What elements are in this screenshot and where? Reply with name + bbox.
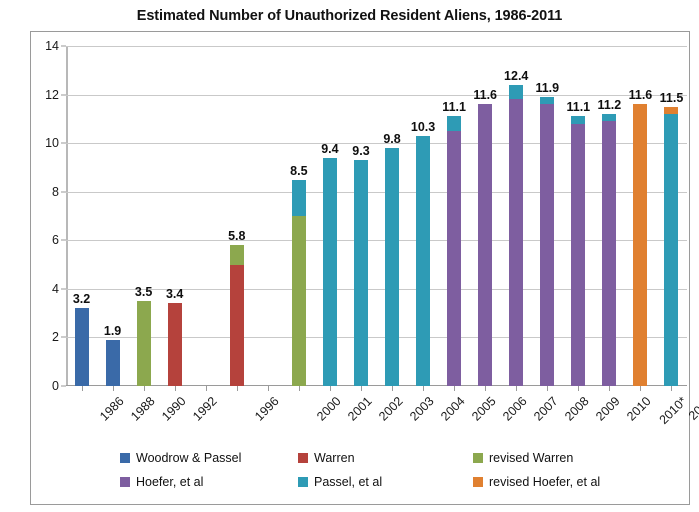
- bar-column[interactable]: 11.6: [633, 104, 647, 386]
- legend-item[interactable]: revised Hoefer, et al: [473, 475, 640, 489]
- bar-value-label: 11.9: [535, 81, 559, 95]
- legend-swatch-icon: [473, 453, 483, 463]
- chart-title: Estimated Number of Unauthorized Residen…: [0, 8, 699, 24]
- x-axis-tick-mark: [175, 386, 176, 391]
- x-axis-tick-mark: [516, 386, 517, 391]
- bar-column[interactable]: 11.5: [664, 107, 678, 386]
- bar-segment[interactable]: [509, 99, 523, 386]
- x-axis-tick-mark: [485, 386, 486, 391]
- x-axis-tick-mark: [82, 386, 83, 391]
- bar-segment[interactable]: [137, 301, 151, 386]
- x-axis-tick-mark: [113, 386, 114, 391]
- y-axis-tick-label: 4: [25, 282, 59, 296]
- bar-value-label: 9.4: [321, 142, 338, 156]
- x-axis-tick-mark: [361, 386, 362, 391]
- bar-value-label: 3.4: [166, 287, 183, 301]
- y-axis-tick-label: 12: [25, 88, 59, 102]
- x-axis-tick-mark: [206, 386, 207, 391]
- plot-area: 02468101214 3.21.93.53.45.88.59.49.39.81…: [66, 46, 687, 386]
- bar-column[interactable]: 9.8: [385, 148, 399, 386]
- bar-value-label: 9.3: [352, 144, 369, 158]
- bar-value-label: 8.5: [290, 164, 307, 178]
- x-axis-tick-mark: [392, 386, 393, 391]
- legend-item[interactable]: revised Warren: [473, 451, 640, 465]
- bar-column[interactable]: 11.2: [602, 114, 616, 386]
- bar-column[interactable]: 9.3: [354, 160, 368, 386]
- bar-segment[interactable]: [447, 131, 461, 386]
- bar-value-label: 11.1: [566, 100, 590, 114]
- bar-segment[interactable]: [478, 104, 492, 386]
- bar-column[interactable]: 8.5: [292, 180, 306, 386]
- bar-value-label: 11.6: [473, 88, 497, 102]
- legend-swatch-icon: [120, 453, 130, 463]
- y-axis-tick-label: 6: [25, 233, 59, 247]
- bar-segment[interactable]: [664, 114, 678, 386]
- bar-segment[interactable]: [571, 124, 585, 386]
- bar-segment[interactable]: [664, 107, 678, 114]
- bar-segment[interactable]: [447, 116, 461, 131]
- legend-label: revised Warren: [489, 451, 573, 465]
- x-axis-tick-mark: [268, 386, 269, 391]
- legend-label: Passel, et al: [314, 475, 382, 489]
- bar-segment[interactable]: [385, 148, 399, 386]
- bar-column[interactable]: 3.4: [168, 303, 182, 386]
- bar-segment[interactable]: [633, 104, 647, 386]
- bar-column[interactable]: 3.5: [137, 301, 151, 386]
- legend-label: Woodrow & Passel: [136, 451, 241, 465]
- bar-value-label: 11.1: [442, 100, 466, 114]
- legend-label: Warren: [314, 451, 355, 465]
- bar-value-label: 1.9: [104, 324, 121, 338]
- bar-segment[interactable]: [416, 136, 430, 386]
- bar-segment[interactable]: [292, 180, 306, 216]
- x-axis-tick-mark: [144, 386, 145, 391]
- legend-item[interactable]: Warren: [298, 451, 473, 465]
- bar-segment[interactable]: [540, 97, 554, 104]
- bar-segment[interactable]: [571, 116, 585, 123]
- bar-segment[interactable]: [323, 158, 337, 386]
- bar-value-label: 3.5: [135, 285, 152, 299]
- bar-segment[interactable]: [106, 340, 120, 386]
- bar-value-label: 12.4: [504, 69, 528, 83]
- bar-segment[interactable]: [230, 245, 244, 264]
- x-axis-tick-mark: [454, 386, 455, 391]
- bar-segment[interactable]: [292, 216, 306, 386]
- legend-item[interactable]: Woodrow & Passel: [120, 451, 298, 465]
- legend-swatch-icon: [473, 477, 483, 487]
- legend-swatch-icon: [120, 477, 130, 487]
- bar-value-label: 9.8: [383, 132, 400, 146]
- bar-segment[interactable]: [509, 85, 523, 100]
- bar-value-label: 10.3: [411, 120, 435, 134]
- bar-column[interactable]: 5.8: [230, 245, 244, 386]
- bar-column[interactable]: 12.4: [509, 85, 523, 386]
- x-axis-tick-mark: [299, 386, 300, 391]
- x-axis-tick-mark: [640, 386, 641, 391]
- legend-label: revised Hoefer, et al: [489, 475, 600, 489]
- legend-item[interactable]: Passel, et al: [298, 475, 473, 489]
- chart-legend: Woodrow & PasselWarrenrevised WarrenHoef…: [120, 446, 640, 494]
- bar-segment[interactable]: [540, 104, 554, 386]
- x-axis-tick-mark: [609, 386, 610, 391]
- legend-label: Hoefer, et al: [136, 475, 203, 489]
- chart-screenshot: Estimated Number of Unauthorized Residen…: [0, 0, 699, 512]
- bar-column[interactable]: 11.1: [571, 116, 585, 386]
- bar-column[interactable]: 11.1: [447, 116, 461, 386]
- bar-column[interactable]: 3.2: [75, 308, 89, 386]
- bar-value-label: 3.2: [73, 292, 90, 306]
- bar-segment[interactable]: [75, 308, 89, 386]
- bar-segment[interactable]: [602, 121, 616, 386]
- bar-column[interactable]: 11.9: [540, 97, 554, 386]
- bar-value-label: 11.2: [598, 98, 622, 112]
- bar-column[interactable]: 1.9: [106, 340, 120, 386]
- bar-column[interactable]: 9.4: [323, 158, 337, 386]
- bars-layer: 3.21.93.53.45.88.59.49.39.810.311.111.61…: [66, 46, 687, 386]
- legend-item[interactable]: Hoefer, et al: [120, 475, 298, 489]
- y-axis-tick-label: 2: [25, 330, 59, 344]
- y-axis-tick-label: 8: [25, 185, 59, 199]
- bar-segment[interactable]: [354, 160, 368, 386]
- x-axis-tick-mark: [578, 386, 579, 391]
- x-axis-tick-mark: [671, 386, 672, 391]
- x-axis-tick-mark: [330, 386, 331, 391]
- x-axis-tick-mark: [237, 386, 238, 391]
- bar-segment[interactable]: [168, 303, 182, 386]
- y-axis-tick-label: 0: [25, 379, 59, 393]
- x-axis-tick-mark: [547, 386, 548, 391]
- bar-column[interactable]: 10.3: [416, 136, 430, 386]
- bar-value-label: 11.5: [660, 91, 684, 105]
- legend-swatch-icon: [298, 477, 308, 487]
- bar-column[interactable]: 11.6: [478, 104, 492, 386]
- y-axis-tick-label: 14: [25, 39, 59, 53]
- bar-segment[interactable]: [602, 114, 616, 121]
- legend-swatch-icon: [298, 453, 308, 463]
- bar-value-label: 5.8: [228, 229, 245, 243]
- bar-value-label: 11.6: [629, 88, 653, 102]
- y-axis-tick-label: 10: [25, 136, 59, 150]
- x-axis-tick-mark: [423, 386, 424, 391]
- bar-segment[interactable]: [230, 265, 244, 386]
